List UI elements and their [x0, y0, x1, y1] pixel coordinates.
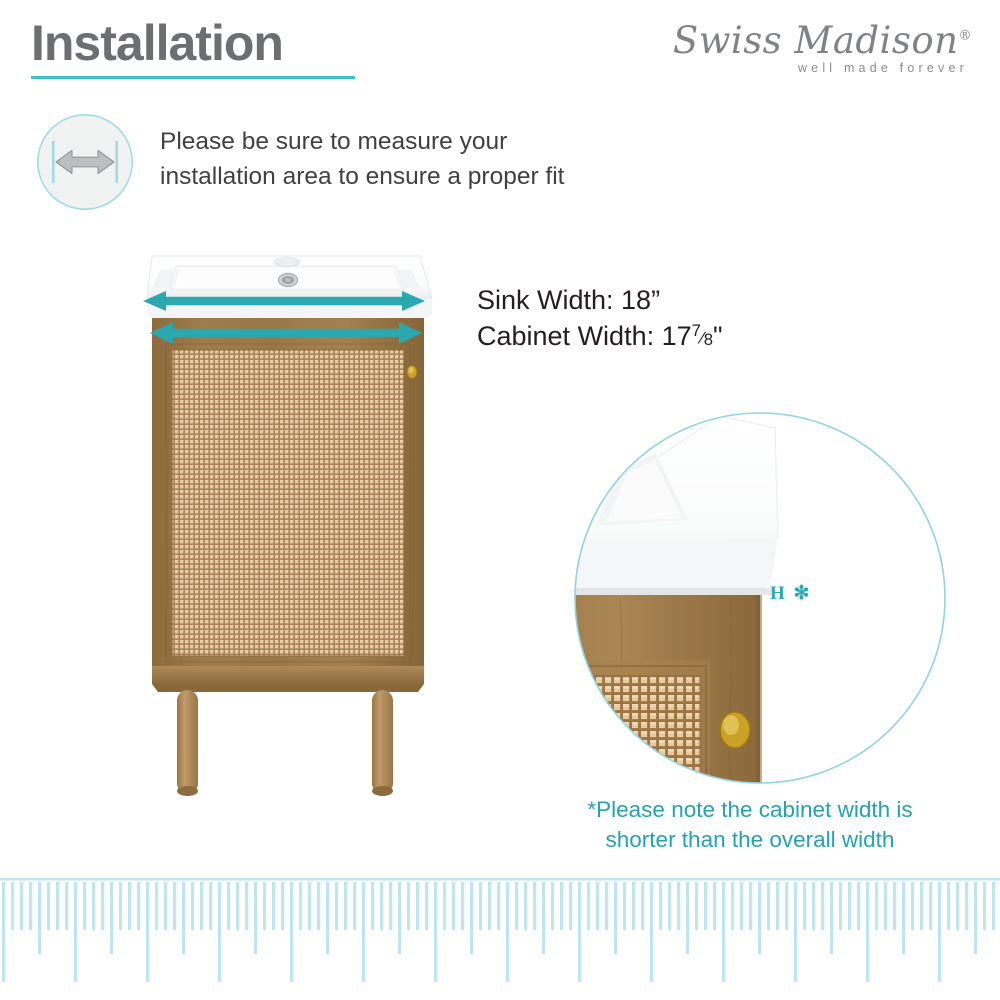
ruler-tick	[578, 882, 581, 982]
ruler-tick	[38, 882, 41, 954]
ruler-tick	[875, 882, 878, 930]
cabinet-width-unit: "	[713, 321, 723, 351]
ruler-baseline	[0, 878, 1000, 881]
ruler-tick	[731, 882, 734, 930]
ruler-tick	[911, 882, 914, 930]
ruler-tick	[866, 882, 869, 982]
ruler-tick	[65, 882, 68, 930]
ruler-tick	[497, 882, 500, 930]
ruler-tick	[308, 882, 311, 930]
footnote-line2: shorter than the overall width	[545, 825, 955, 855]
ruler-tick	[362, 882, 365, 982]
ruler-tick	[155, 882, 158, 930]
ruler-tick	[20, 882, 23, 930]
ruler-tick	[587, 882, 590, 930]
ruler-tick	[515, 882, 518, 930]
ruler-tick	[263, 882, 266, 930]
ruler-tick	[920, 882, 923, 930]
ruler-tick	[551, 882, 554, 930]
ruler-tick	[128, 882, 131, 930]
ruler-tick	[722, 882, 725, 982]
ruler-tick	[353, 882, 356, 930]
ruler-tick	[740, 882, 743, 930]
ruler-tick	[695, 882, 698, 930]
ruler-tick	[434, 882, 437, 982]
ruler-tick	[947, 882, 950, 930]
ruler-tick	[335, 882, 338, 930]
ruler-tick	[281, 882, 284, 930]
ruler-tick	[758, 882, 761, 954]
ruler-tick	[902, 882, 905, 954]
detail-zoom-circle	[560, 398, 960, 798]
ruler-tick	[227, 882, 230, 930]
sink-width-label: Sink Width: 18”	[477, 282, 723, 318]
ruler-tick	[470, 882, 473, 954]
cabinet-knob[interactable]	[407, 366, 417, 379]
ruler-tick	[794, 882, 797, 982]
ruler-tick	[299, 882, 302, 930]
detail-knob	[720, 712, 750, 748]
cabinet-legs	[177, 690, 393, 796]
ruler-tick	[614, 882, 617, 954]
ruler-tick	[641, 882, 644, 930]
ruler-tick	[344, 882, 347, 930]
ruler-tick	[209, 882, 212, 930]
fraction-denominator: 8	[704, 330, 713, 349]
cabinet-body	[152, 318, 424, 692]
ruler-tick	[704, 882, 707, 930]
ruler-tick	[713, 882, 716, 930]
footnote-line1: *Please note the cabinet width is	[545, 795, 955, 825]
ruler-tick	[821, 882, 824, 930]
ruler-tick	[659, 882, 662, 930]
ruler-decoration	[0, 878, 1000, 1000]
ruler-tick	[137, 882, 140, 930]
ruler-tick	[317, 882, 320, 930]
ruler-tick	[569, 882, 572, 930]
ruler-tick	[380, 882, 383, 930]
ruler-tick	[92, 882, 95, 930]
ruler-tick	[479, 882, 482, 930]
ruler-tick	[605, 882, 608, 930]
ruler-tick	[119, 882, 122, 930]
page-title: Installation	[31, 18, 283, 68]
ruler-tick	[956, 882, 959, 930]
ruler-tick	[164, 882, 167, 930]
ruler-tick	[416, 882, 419, 930]
cabinet-width-fraction: 7⁄8	[692, 320, 713, 352]
brand-tagline: well made forever	[672, 61, 968, 75]
ruler-tick	[938, 882, 941, 982]
measure-instruction: Please be sure to measure your installat…	[160, 125, 565, 195]
ruler-tick	[632, 882, 635, 930]
ruler-tick	[371, 882, 374, 930]
ruler-tick	[857, 882, 860, 930]
ruler-tick	[839, 882, 842, 930]
ruler-tick	[398, 882, 401, 954]
dimension-callouts: Sink Width: 18” Cabinet Width: 177⁄8"	[477, 282, 723, 355]
ruler-tick	[101, 882, 104, 930]
ruler-tick	[110, 882, 113, 954]
ruler-tick	[893, 882, 896, 930]
ruler-tick	[47, 882, 50, 930]
ruler-tick	[218, 882, 221, 982]
ruler-tick	[56, 882, 59, 930]
brand-wordmark: Swiss Madison®	[672, 22, 972, 59]
ruler-tick	[803, 882, 806, 930]
ruler-tick	[182, 882, 185, 954]
ruler-tick	[668, 882, 671, 930]
ruler-tick	[74, 882, 77, 982]
ruler-tick	[11, 882, 14, 930]
cabinet-width-label: Cabinet Width: 177⁄8"	[477, 318, 723, 354]
ruler-tick	[785, 882, 788, 930]
ruler-tick	[884, 882, 887, 930]
ruler-tick	[992, 882, 995, 930]
brand-logo: Swiss Madison® well made forever	[672, 22, 972, 84]
ruler-tick	[776, 882, 779, 930]
cabinet-width-prefix: Cabinet Width: 17	[477, 321, 692, 351]
ruler-tick	[830, 882, 833, 954]
ruler-tick	[506, 882, 509, 982]
ruler-tick	[677, 882, 680, 930]
ruler-tick	[389, 882, 392, 930]
ruler-tick	[623, 882, 626, 930]
ruler-tick	[974, 882, 977, 954]
ruler-tick	[83, 882, 86, 930]
ruler-tick	[965, 882, 968, 930]
registered-mark: ®	[959, 29, 973, 44]
ruler-tick	[2, 882, 5, 982]
ruler-tick	[524, 882, 527, 930]
brand-wordmark-text: Swiss Madison	[673, 19, 959, 62]
measure-instruction-line2: installation area to ensure a proper fit	[160, 160, 565, 195]
measure-instruction-line1: Please be sure to measure your	[160, 125, 565, 160]
sink-top	[147, 256, 432, 318]
ruler-tick	[686, 882, 689, 954]
ruler-tick	[425, 882, 428, 930]
ruler-tick	[254, 882, 257, 954]
detail-zoom-content	[560, 398, 960, 798]
width-arrow-icon	[36, 113, 134, 211]
ruler-tick	[596, 882, 599, 930]
cabinet-width-footnote: *Please note the cabinet width is shorte…	[545, 795, 955, 854]
ruler-tick	[146, 882, 149, 982]
ruler-tick	[848, 882, 851, 930]
ruler-tick	[407, 882, 410, 930]
ruler-tick	[542, 882, 545, 954]
ruler-tick	[443, 882, 446, 930]
ruler-tick	[461, 882, 464, 930]
ruler-tick	[452, 882, 455, 930]
ruler-tick	[245, 882, 248, 930]
ruler-tick	[650, 882, 653, 982]
overhang-marker-label: H ✻	[770, 582, 811, 605]
ruler-tick	[812, 882, 815, 930]
ruler-tick	[983, 882, 986, 930]
ruler-tick	[488, 882, 491, 930]
ruler-tick	[173, 882, 176, 930]
ruler-tick	[749, 882, 752, 930]
ruler-tick	[533, 882, 536, 930]
ruler-tick	[290, 882, 293, 982]
ruler-tick	[272, 882, 275, 930]
ruler-tick	[326, 882, 329, 954]
ruler-tick	[200, 882, 203, 930]
fraction-numerator: 7	[692, 321, 701, 340]
ruler-tick	[236, 882, 239, 930]
ruler-tick	[929, 882, 932, 930]
title-underline	[31, 76, 355, 79]
vanity-illustration	[0, 240, 500, 800]
ruler-tick	[191, 882, 194, 930]
ruler-tick	[29, 882, 32, 930]
ruler-tick	[767, 882, 770, 930]
ruler-tick	[560, 882, 563, 930]
